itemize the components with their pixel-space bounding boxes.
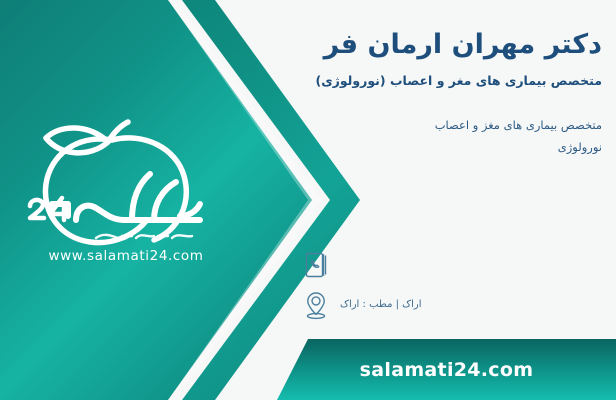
contact-label-location: اراک | مطب : اراک — [340, 298, 422, 312]
contact-row-phone[interactable] — [300, 248, 600, 282]
chevron-front-shape — [0, 0, 312, 400]
specialty-details: متخصص بیماری های مغز و اعصاب نورولوژی — [282, 115, 602, 158]
location-pin-icon[interactable] — [300, 288, 332, 322]
specialty-detail-line: نورولوژی — [282, 137, 602, 158]
footer-website[interactable]: salamati24.com — [360, 359, 534, 381]
doctor-name: دکتر مهران ارمان فر — [282, 28, 602, 62]
business-card: www.salamati24.com دکتر مهران ارمان فر م… — [0, 0, 616, 400]
specialty-headline: متخصص بیماری های مغر و اعصاب (نورولوژی) — [282, 72, 602, 90]
contact-list: اراک | مطب : اراک — [300, 248, 600, 328]
phone-book-icon[interactable] — [300, 248, 332, 282]
footer-bar: salamati24.com — [277, 339, 616, 400]
contact-row-location[interactable]: اراک | مطب : اراک — [300, 288, 600, 322]
doctor-info-panel: دکتر مهران ارمان فر متخصص بیماری های مغر… — [282, 28, 602, 158]
specialty-detail-line: متخصص بیماری های مغز و اعصاب — [282, 115, 602, 136]
